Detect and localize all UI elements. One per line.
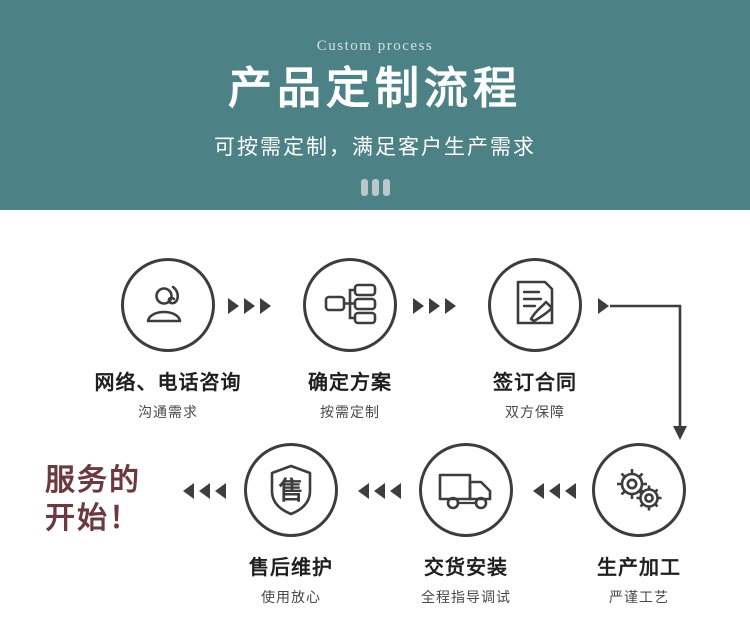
after-sales-shield-icon: 售 [268,463,314,517]
page-title: 产品定制流程 [228,67,522,111]
sign-contract-icon [509,277,561,333]
arrow-left-icon [358,483,369,499]
banner-subtitle: 可按需定制，满足客户生产需求 [214,131,536,161]
step-aftersales-title: 售后维护 [216,551,366,580]
step-production-circle [592,443,686,537]
flowchart-icon [322,280,378,330]
person-headset-icon [140,277,196,333]
banner-eyebrow: Custom process [317,38,433,55]
arrows-consult-to-plan [228,298,271,314]
step-delivery: 交货安装 全程指导调试 [391,443,541,607]
step-plan-sub: 按需定制 [275,402,425,422]
arrow-contract-to-production [598,298,609,314]
step-delivery-circle [419,443,513,537]
arrow-right-icon [445,298,456,314]
arrow-left-icon [533,483,544,499]
step-production: 生产加工 严谨工艺 [564,443,714,607]
start-label-line2: 开始！ [45,500,141,538]
elbow-connector-down [608,288,708,458]
banner-dots-decoration [361,179,390,196]
arrow-left-icon [549,483,560,499]
step-plan: 确定方案 按需定制 [275,258,425,422]
step-plan-title: 确定方案 [275,366,425,395]
svg-text:售: 售 [278,476,303,505]
arrow-right-icon [244,298,255,314]
step-consult-sub: 沟通需求 [93,402,243,422]
arrow-left-icon [374,483,385,499]
dot-3 [383,179,390,196]
step-consult-title: 网络、电话咨询 [93,366,243,395]
gears-icon [611,464,667,516]
truck-icon [437,467,495,513]
step-plan-circle [303,258,397,352]
header-banner: Custom process 产品定制流程 可按需定制，满足客户生产需求 [0,0,750,210]
custom-process-infographic: Custom process 产品定制流程 可按需定制，满足客户生产需求 网络、… [0,0,750,630]
step-production-sub: 严谨工艺 [564,587,714,607]
arrows-plan-to-contract [413,298,456,314]
step-aftersales: 售 售后维护 使用放心 [216,443,366,607]
arrow-right-icon [228,298,239,314]
arrow-left-icon [183,483,194,499]
step-delivery-sub: 全程指导调试 [391,587,541,607]
step-consult: 网络、电话咨询 沟通需求 [93,258,243,422]
arrow-left-icon [199,483,210,499]
step-contract-sub: 双方保障 [460,402,610,422]
arrow-right-icon [260,298,271,314]
arrow-right-icon [429,298,440,314]
dot-1 [361,179,368,196]
step-delivery-title: 交货安装 [391,551,541,580]
dot-2 [372,179,379,196]
step-aftersales-circle: 售 [244,443,338,537]
process-flow: 网络、电话咨询 沟通需求 [0,210,750,630]
start-label: 服务的 开始！ [45,462,141,537]
step-contract: 签订合同 双方保障 [460,258,610,422]
arrow-right-icon [598,298,609,314]
step-contract-circle [488,258,582,352]
step-consult-circle [121,258,215,352]
arrow-right-icon [413,298,424,314]
start-label-line1: 服务的 [45,462,141,500]
step-production-title: 生产加工 [564,551,714,580]
step-aftersales-sub: 使用放心 [216,587,366,607]
step-contract-title: 签订合同 [460,366,610,395]
